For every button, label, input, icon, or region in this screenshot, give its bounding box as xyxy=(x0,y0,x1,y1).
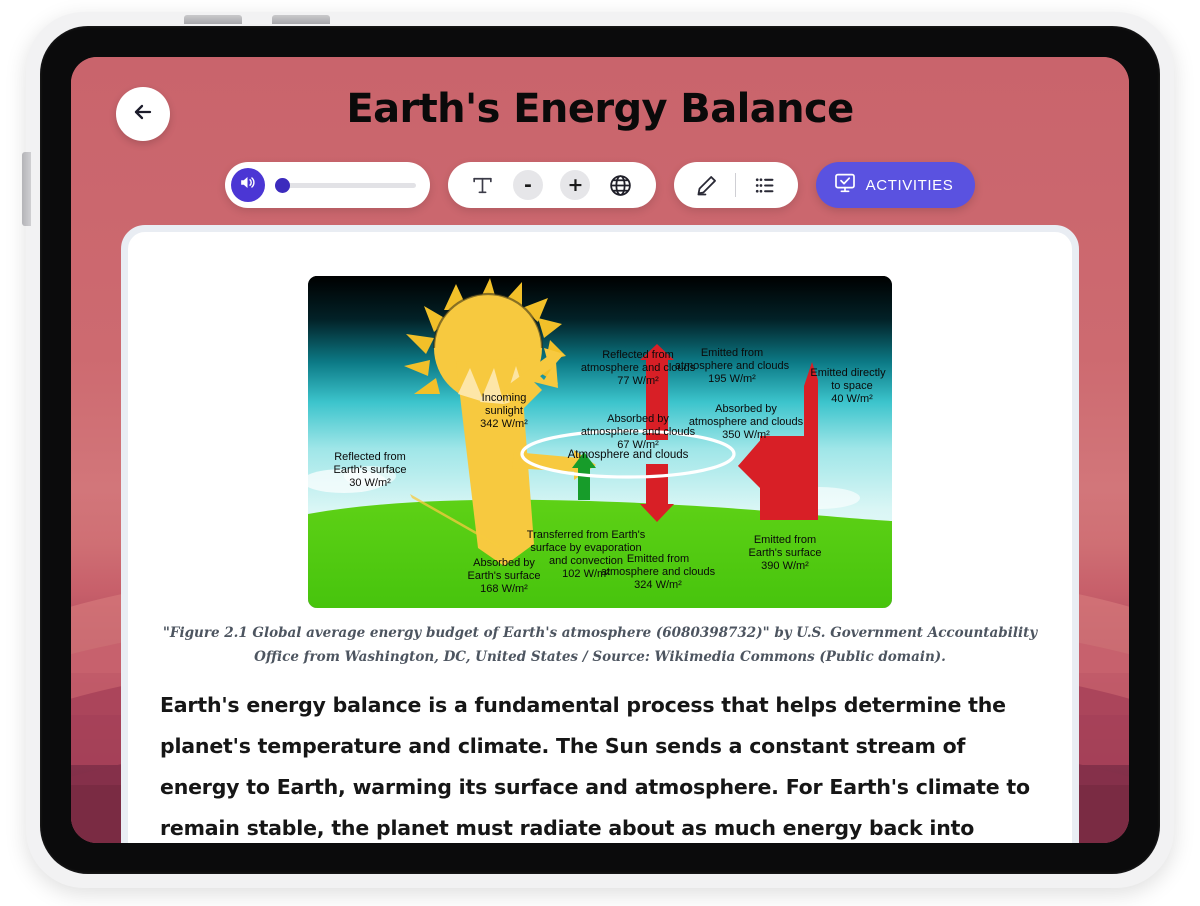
svg-text:40 W/m²: 40 W/m² xyxy=(831,393,873,405)
svg-text:Earth's surface: Earth's surface xyxy=(467,570,540,582)
activities-label: ACTIVITIES xyxy=(866,177,954,194)
svg-text:195 W/m²: 195 W/m² xyxy=(708,373,756,385)
increase-text-size-button[interactable]: + xyxy=(560,170,590,200)
svg-text:168 W/m²: 168 W/m² xyxy=(480,583,528,595)
svg-text:77 W/m²: 77 W/m² xyxy=(617,375,659,387)
globe-icon[interactable] xyxy=(608,173,633,198)
svg-text:Emitted from: Emitted from xyxy=(754,534,816,546)
figure-caption-line-2: Office from Washington, DC, United State… xyxy=(254,649,946,665)
svg-text:Emitted directly: Emitted directly xyxy=(810,367,886,379)
energy-balance-diagram: Incoming sunlight 342 W/m² Reflected fro… xyxy=(308,276,892,608)
svg-text:Reflected from: Reflected from xyxy=(334,451,406,463)
page-title: Earth's Energy Balance xyxy=(71,86,1129,132)
annotate-tools-group xyxy=(674,162,798,208)
svg-text:Transferred from Earth's: Transferred from Earth's xyxy=(527,529,646,541)
tablet-device-frame: Earth's Energy Balance xyxy=(26,12,1174,888)
figure-caption-line-1: "Figure 2.1 Global average energy budget… xyxy=(163,625,1037,641)
pencil-icon[interactable] xyxy=(694,173,719,198)
tablet-screen: Earth's Energy Balance xyxy=(71,57,1129,843)
power-button[interactable] xyxy=(22,152,31,226)
svg-text:sunlight: sunlight xyxy=(485,405,523,417)
svg-text:Emitted from: Emitted from xyxy=(627,553,689,565)
list-icon[interactable] xyxy=(752,173,777,198)
svg-text:324 W/m²: 324 W/m² xyxy=(634,579,682,591)
svg-text:atmosphere and clouds: atmosphere and clouds xyxy=(601,566,716,578)
content-card[interactable]: Incoming sunlight 342 W/m² Reflected fro… xyxy=(121,225,1079,843)
svg-text:Earth's surface: Earth's surface xyxy=(748,547,821,559)
figure-caption: "Figure 2.1 Global average energy budget… xyxy=(162,622,1038,669)
svg-text:Emitted from: Emitted from xyxy=(701,347,763,359)
svg-text:Reflected from: Reflected from xyxy=(602,349,674,361)
svg-text:surface by evaporation: surface by evaporation xyxy=(530,542,641,554)
svg-text:atmosphere and clouds: atmosphere and clouds xyxy=(675,360,790,372)
decrease-text-size-button[interactable]: - xyxy=(513,170,543,200)
svg-text:atmosphere and clouds: atmosphere and clouds xyxy=(581,426,696,438)
speaker-icon xyxy=(238,173,257,197)
figure-block: Incoming sunlight 342 W/m² Reflected fro… xyxy=(160,276,1040,669)
svg-text:30 W/m²: 30 W/m² xyxy=(349,477,391,489)
svg-text:350 W/m²: 350 W/m² xyxy=(722,429,770,441)
svg-text:342 W/m²: 342 W/m² xyxy=(480,418,528,430)
text-format-icon[interactable] xyxy=(470,173,495,198)
content-scroll-area: Incoming sunlight 342 W/m² Reflected fro… xyxy=(128,232,1072,843)
svg-text:390 W/m²: 390 W/m² xyxy=(761,560,809,572)
audio-progress-slider[interactable] xyxy=(275,183,416,188)
svg-text:Absorbed by: Absorbed by xyxy=(607,413,669,425)
activities-button[interactable]: ACTIVITIES xyxy=(816,162,976,208)
text-tools-group: - + xyxy=(448,162,656,208)
audio-progress-thumb[interactable] xyxy=(275,178,290,193)
svg-text:Absorbed by: Absorbed by xyxy=(715,403,777,415)
reader-toolbar: - + xyxy=(71,162,1129,208)
monitor-check-icon xyxy=(833,171,857,200)
audio-player-group xyxy=(225,162,430,208)
svg-text:Absorbed by: Absorbed by xyxy=(473,557,535,569)
audio-play-button[interactable] xyxy=(231,168,265,202)
svg-text:to space: to space xyxy=(831,380,873,392)
volume-down-button[interactable] xyxy=(272,15,330,24)
toolbar-divider xyxy=(735,173,736,197)
body-paragraph: Earth's energy balance is a fundamental … xyxy=(160,685,1040,843)
volume-up-button[interactable] xyxy=(184,15,242,24)
svg-text:Atmosphere and clouds: Atmosphere and clouds xyxy=(568,449,689,461)
svg-text:atmosphere and clouds: atmosphere and clouds xyxy=(689,416,804,428)
svg-text:Earth's surface: Earth's surface xyxy=(333,464,406,476)
svg-text:Incoming: Incoming xyxy=(482,392,527,404)
